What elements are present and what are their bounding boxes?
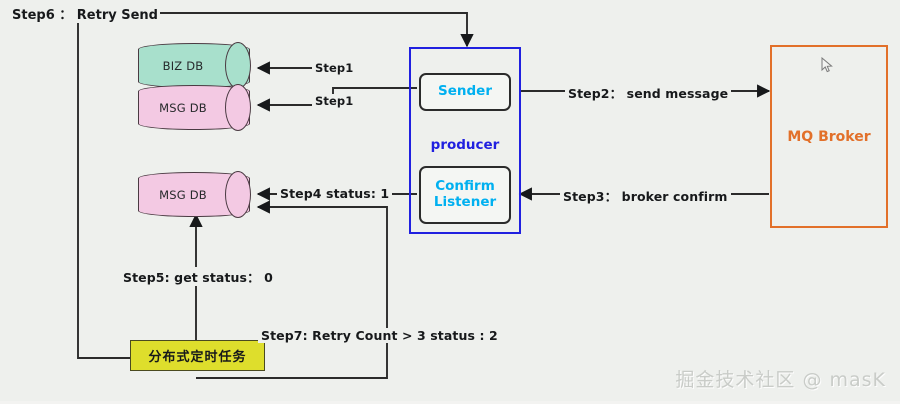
edge-label-step7: Step7: Retry Count > 3 status : 2 xyxy=(258,328,501,343)
edge-label-step1-biz: Step1 xyxy=(312,61,356,75)
edge-label-step5: Step5: get status： 0 xyxy=(120,267,276,286)
msg-db-bottom-cylinder: MSG DB xyxy=(138,172,250,217)
biz-db-label: BIZ DB xyxy=(138,59,228,73)
confirm-listener-box[interactable]: Confirm Listener xyxy=(419,166,511,224)
msg-db-bottom-cap xyxy=(225,171,251,218)
msg-db-bottom-label: MSG DB xyxy=(138,188,228,202)
sender-box[interactable]: Sender xyxy=(419,73,511,111)
msg-db-top-cylinder: MSG DB xyxy=(138,85,250,130)
edge-label-step3: Step3： broker confirm xyxy=(560,186,731,205)
edge-label-step2: Step2： send message xyxy=(565,83,731,102)
page-title: Step6 ： Retry Send xyxy=(10,4,160,23)
confirm-listener-label-line1: Confirm xyxy=(435,179,495,195)
msg-db-top-cap xyxy=(225,84,251,131)
edge-label-step1-msg: Step1 xyxy=(312,94,356,108)
msg-db-top-label: MSG DB xyxy=(138,101,228,115)
biz-db-cap xyxy=(225,42,251,89)
biz-db-cylinder: BIZ DB xyxy=(138,43,250,88)
edge-label-step4: Step4 status: 1 xyxy=(277,186,392,201)
scheduler-label: 分布式定时任务 xyxy=(148,346,246,365)
diagram-canvas: Step6 ： Retry Send BIZ DB MSG DB MSG DB … xyxy=(0,0,900,404)
mq-broker-label: MQ Broker xyxy=(787,129,870,145)
edge-step6-top xyxy=(160,13,467,46)
producer-label: producer xyxy=(411,137,519,153)
watermark: 掘金技术社区 @ masK xyxy=(675,365,886,392)
confirm-listener-label-line2: Listener xyxy=(434,195,496,211)
sender-label: Sender xyxy=(438,84,492,100)
edge-step6-left-bus xyxy=(78,20,130,358)
scheduler-box[interactable]: 分布式定时任务 xyxy=(130,340,265,371)
mouse-cursor-icon xyxy=(821,57,835,75)
